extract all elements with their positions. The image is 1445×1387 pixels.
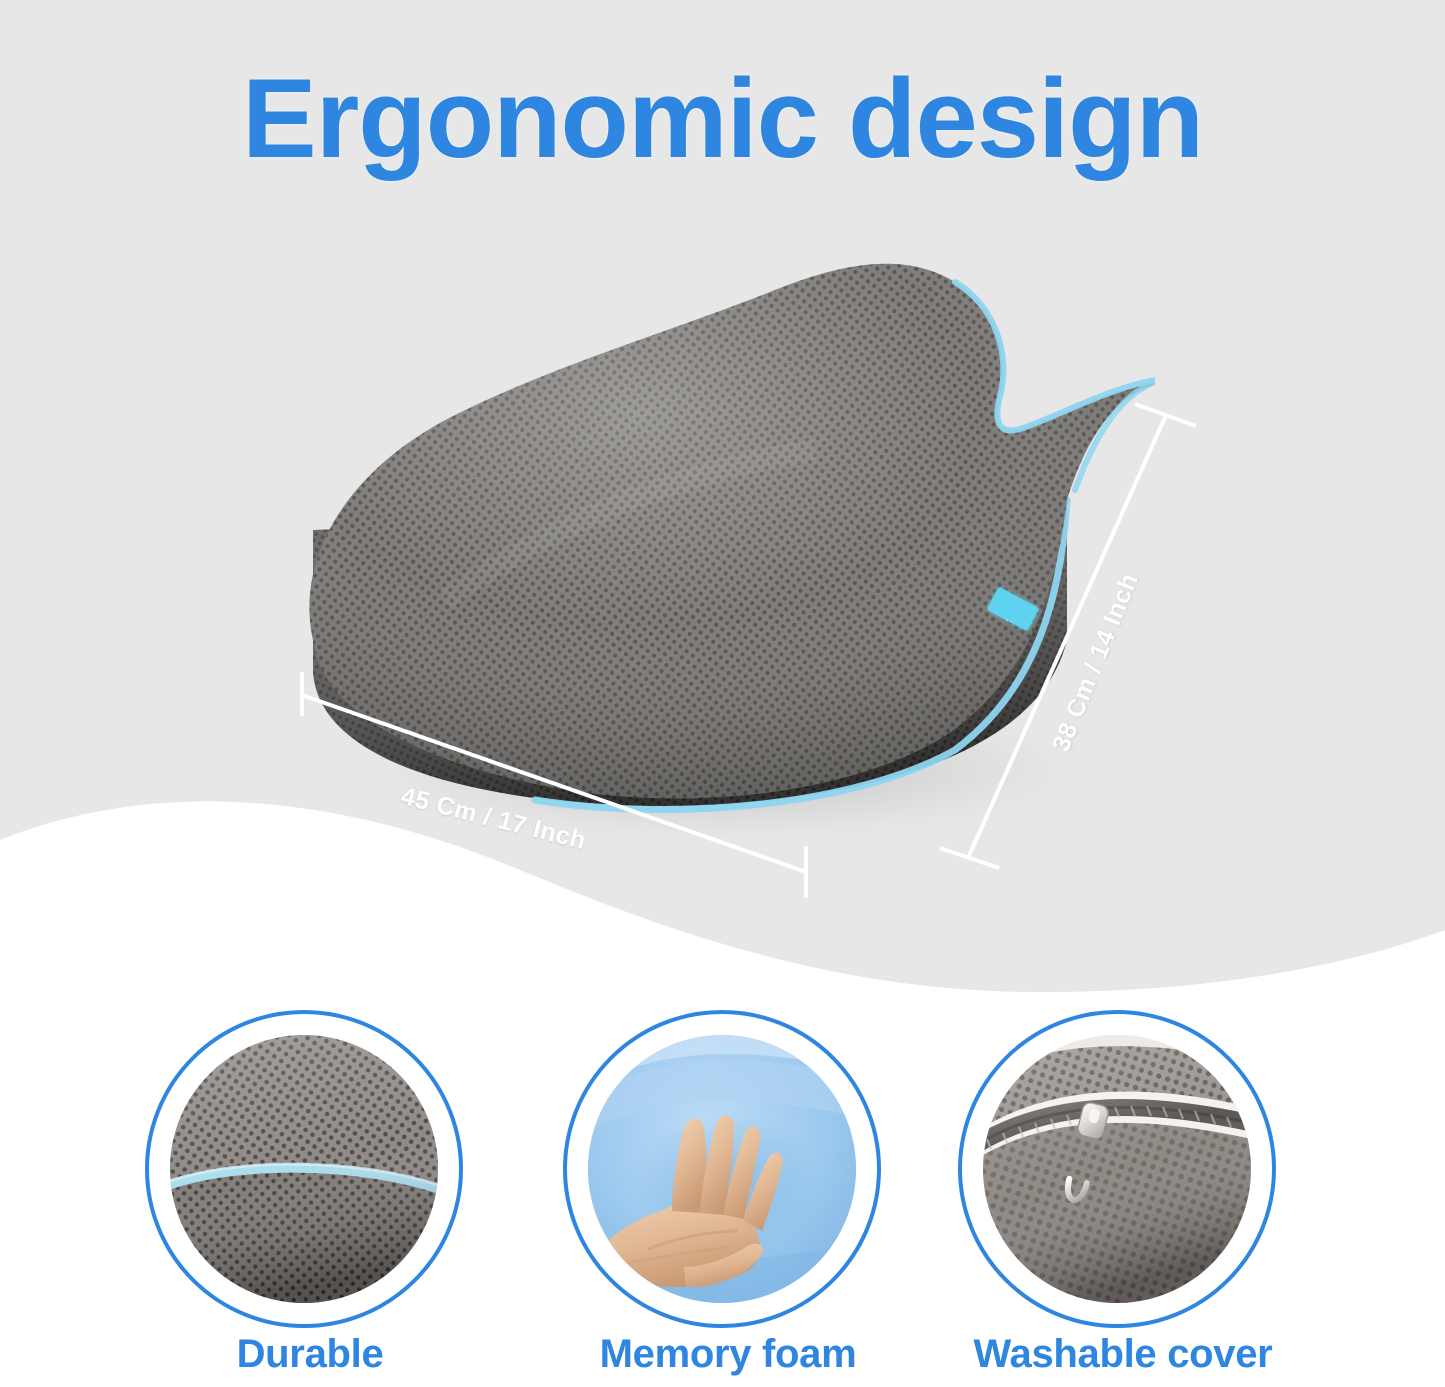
hand-pressing-foam-icon [588,1035,856,1303]
mesh-fabric-icon [170,1035,438,1303]
zipper-icon [983,1035,1251,1303]
feature-label-durable: Durable [145,1332,475,1377]
product-image [255,170,1155,870]
feature-label-memory-foam: Memory foam [533,1332,923,1377]
feature-washable-cover[interactable]: Washable cover [958,1002,1288,1387]
page-title: Ergonomic design [0,60,1445,178]
washable-cover-photo [983,1035,1251,1303]
cushion-illustration [255,170,1155,870]
durable-photo [170,1035,438,1303]
feature-durable[interactable]: Durable [145,1002,475,1387]
feature-label-washable-cover: Washable cover [928,1332,1318,1377]
memory-foam-photo [588,1035,856,1303]
product-infographic: Ergonomic design [0,0,1445,1387]
feature-memory-foam[interactable]: Memory foam [563,1002,893,1387]
feature-row: Durable [0,1002,1445,1387]
